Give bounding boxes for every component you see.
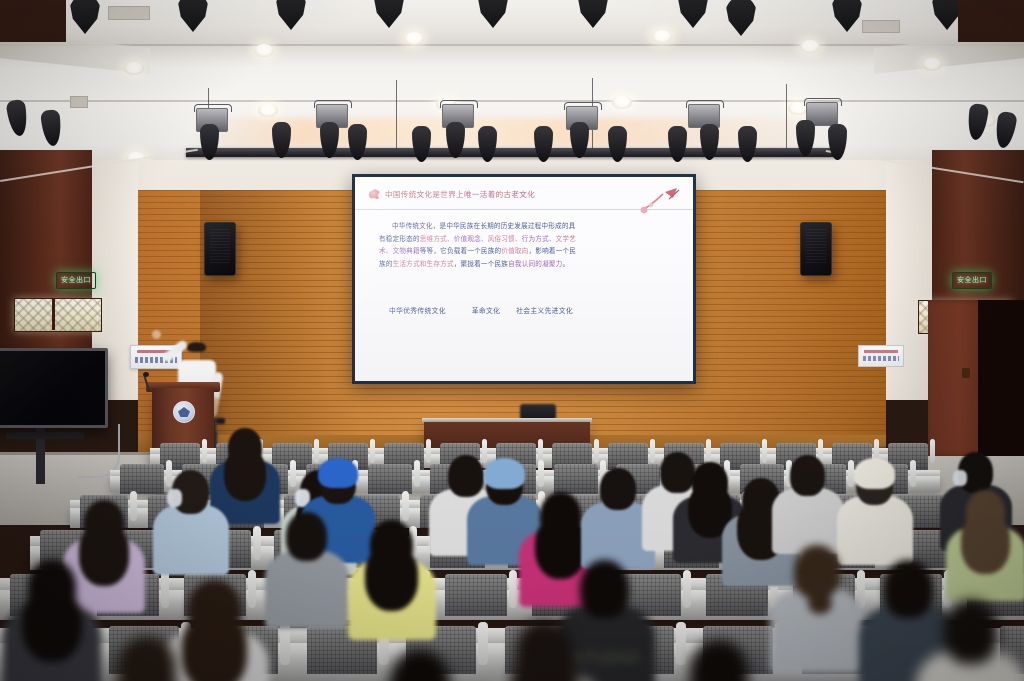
- ceiling-seam: [0, 44, 1024, 46]
- seat-divider: [478, 622, 488, 665]
- seat-divider: [706, 439, 711, 463]
- slide-text-run: ，聚拢着一个民族: [454, 261, 508, 268]
- seat-divider: [314, 439, 319, 463]
- seat-divider: [130, 491, 137, 521]
- audience-member-face-mask: [167, 489, 182, 507]
- slide-body: 中华传统文化，是中华民族在长期的历史发展过程中形成的具 有稳定形态的思维方式、价…: [379, 221, 673, 271]
- ceiling-downlight: [404, 32, 424, 45]
- seat-divider: [594, 439, 599, 463]
- presenter-raised-hand: [152, 330, 161, 339]
- projection-screen[interactable]: 中国传统文化是世界上唯一活着的古老文化 中华传统文化，是中华民族在长期的历史发展…: [352, 174, 696, 384]
- ceiling-downlight: [612, 96, 632, 109]
- slide-paragraph-4: 族的生活方式和生存方式，聚拢着一个民族自我认同的凝聚力。: [379, 259, 673, 272]
- presentation-remote[interactable]: [216, 418, 225, 424]
- slide-term-1-prefix: 中华: [389, 305, 403, 315]
- ceiling-downlight: [922, 58, 942, 71]
- seat-divider: [426, 439, 431, 463]
- audience-member-cap: [484, 458, 525, 489]
- slide-decoration-icon: [639, 187, 681, 217]
- audience-member-torso: [153, 505, 229, 575]
- microphone-icon: [143, 372, 149, 377]
- audience-member-head: [188, 580, 241, 642]
- slide-title: 中国传统文化是世界上唯一活着的古老文化: [385, 189, 535, 200]
- truss-hanger-wire: [396, 80, 397, 150]
- ceiling-vent: [108, 6, 150, 20]
- seat-divider: [414, 460, 420, 487]
- seat-divider: [683, 570, 691, 608]
- seat-divider: [930, 439, 935, 463]
- seat-divider: [290, 460, 296, 487]
- slide-term-1-suffix: 传统文化: [417, 305, 445, 315]
- slide-highlight-run: 生活方式和生存方式: [393, 261, 454, 268]
- audience-member-head: [516, 620, 572, 681]
- seat-divider: [253, 526, 261, 560]
- slide-text-run: ，影响着一个民: [528, 248, 576, 255]
- exit-sign-label: 安全出口: [61, 277, 91, 284]
- ceiling-downlight: [124, 62, 144, 75]
- audience-member-torso: [772, 488, 844, 554]
- slide-footer-terms: 中华优秀传统文化革命文化社会主义先进文化: [389, 305, 673, 315]
- audience-member-head: [28, 560, 76, 616]
- ceiling-downlight: [800, 40, 820, 53]
- slide-highlight-run: 行为方式、: [522, 236, 556, 243]
- audience-member-cap: [854, 458, 895, 489]
- ceiling-corner-shadow-right: [958, 0, 1024, 42]
- wall-speaker-right: [800, 222, 832, 276]
- audience-member-head: [84, 500, 124, 547]
- seat-divider: [538, 460, 544, 487]
- audience-member-head: [286, 512, 327, 561]
- slide-highlight-run: 文学艺: [556, 236, 576, 243]
- slide-highlight-run: 思维方式、: [420, 236, 454, 243]
- ceiling-vent: [70, 96, 88, 108]
- seat-divider: [762, 439, 767, 463]
- audience-member-head: [692, 462, 728, 504]
- slide-text-run: 。: [562, 261, 569, 268]
- presenter-head: [188, 344, 205, 364]
- seat-divider: [370, 439, 375, 463]
- slide-paragraph-2: 有稳定形态的思维方式、价值观念、风俗习惯、行为方式、文学艺: [379, 234, 673, 247]
- audience-member-head: [540, 492, 581, 540]
- audience-member-head: [794, 545, 840, 599]
- ceiling-downlight: [254, 44, 274, 57]
- ceiling-downlight: [258, 104, 278, 117]
- exit-sign-right: 安全出口: [952, 272, 992, 289]
- exit-sign-label: 安全出口: [957, 277, 987, 284]
- slide-highlight-run: 价值取向: [501, 248, 528, 255]
- seat-divider: [202, 439, 207, 463]
- slide-paragraph-3: 术、文物典籍等等，它负载着一个民族的价值取向，影响着一个民: [379, 246, 673, 259]
- ceiling-corner-shadow-left: [0, 0, 66, 42]
- audience-member-head: [790, 455, 825, 496]
- audience-member-head: [600, 468, 636, 510]
- slide-text-run: 族的: [379, 261, 393, 268]
- ceiling-vent: [862, 20, 900, 33]
- window-mullion: [52, 298, 55, 330]
- seat-divider: [650, 439, 655, 463]
- seat-back[interactable]: [368, 464, 412, 494]
- slide-highlight-run: 风俗习惯、: [488, 236, 522, 243]
- seat-divider: [509, 570, 517, 608]
- slide-text-run: 有稳定形态的: [379, 236, 420, 243]
- audience-member-head: [370, 520, 413, 570]
- slide-term-1-highlight: 优秀: [403, 305, 417, 315]
- wall-notice-right: [858, 345, 904, 367]
- audience-member-head: [228, 428, 262, 468]
- audience-member-cap: [318, 458, 358, 488]
- audience-member-head: [448, 455, 484, 497]
- doorway-opening-right: [978, 300, 1024, 456]
- exit-sign-left: 安全出口: [56, 272, 96, 289]
- seat-back[interactable]: [445, 574, 507, 616]
- display-monitor[interactable]: [0, 348, 108, 428]
- ceiling-seam: [0, 100, 1024, 102]
- slide-term-3: 社会主义先进文化: [516, 305, 573, 315]
- ceiling-middle-panel: [0, 44, 1024, 102]
- seat-divider: [248, 570, 256, 608]
- seat-divider: [161, 570, 169, 608]
- audience-member-head: [966, 490, 1005, 536]
- monitor-base: [6, 432, 84, 439]
- seat-back[interactable]: [120, 464, 164, 494]
- slide-surface: 中国传统文化是世界上唯一活着的古老文化 中华传统文化，是中华民族在长期的历史发展…: [355, 177, 693, 381]
- truss-hanger-wire: [786, 84, 787, 150]
- wall-speaker-left: [204, 222, 236, 276]
- audience-member-head: [580, 560, 629, 618]
- slide-paragraph-1: 中华传统文化，是中华民族在长期的历史发展过程中形成的具: [379, 221, 673, 234]
- slide-term-2: 革命文化: [472, 305, 500, 315]
- seat-divider: [482, 439, 487, 463]
- slide-highlight-run: 自我认同的凝聚力: [508, 261, 562, 268]
- audience-member-shirt-graphic: STUDIO: [573, 650, 639, 668]
- slide-text-run: 等等，它负载着一个民族的: [420, 248, 502, 255]
- audience-member-torso: [265, 551, 349, 629]
- slide-highlight-run: 术、文物典籍: [379, 248, 420, 255]
- transom-window-left: [14, 298, 102, 332]
- ceiling-downlight: [652, 30, 672, 43]
- audience-member-head: [660, 452, 695, 493]
- audience-member-head: [884, 560, 933, 618]
- seat-divider: [910, 460, 916, 487]
- audience-member-face-mask: [953, 470, 967, 486]
- door-handle-icon[interactable]: [962, 368, 970, 378]
- institution-emblem-icon: [173, 401, 195, 423]
- slide-highlight-run: 价值观念、: [454, 236, 488, 243]
- seat-divider: [166, 460, 172, 487]
- seat-divider: [676, 622, 686, 665]
- lecture-hall-scene: 安全出口 安全出口 中国传统文化是世界上唯一: [0, 0, 1024, 681]
- seat-divider: [402, 491, 409, 521]
- monitor-screen: [0, 351, 105, 425]
- seat-back[interactable]: [554, 464, 598, 494]
- audience-member-torso: [837, 496, 913, 565]
- audience-member-head: [944, 600, 998, 664]
